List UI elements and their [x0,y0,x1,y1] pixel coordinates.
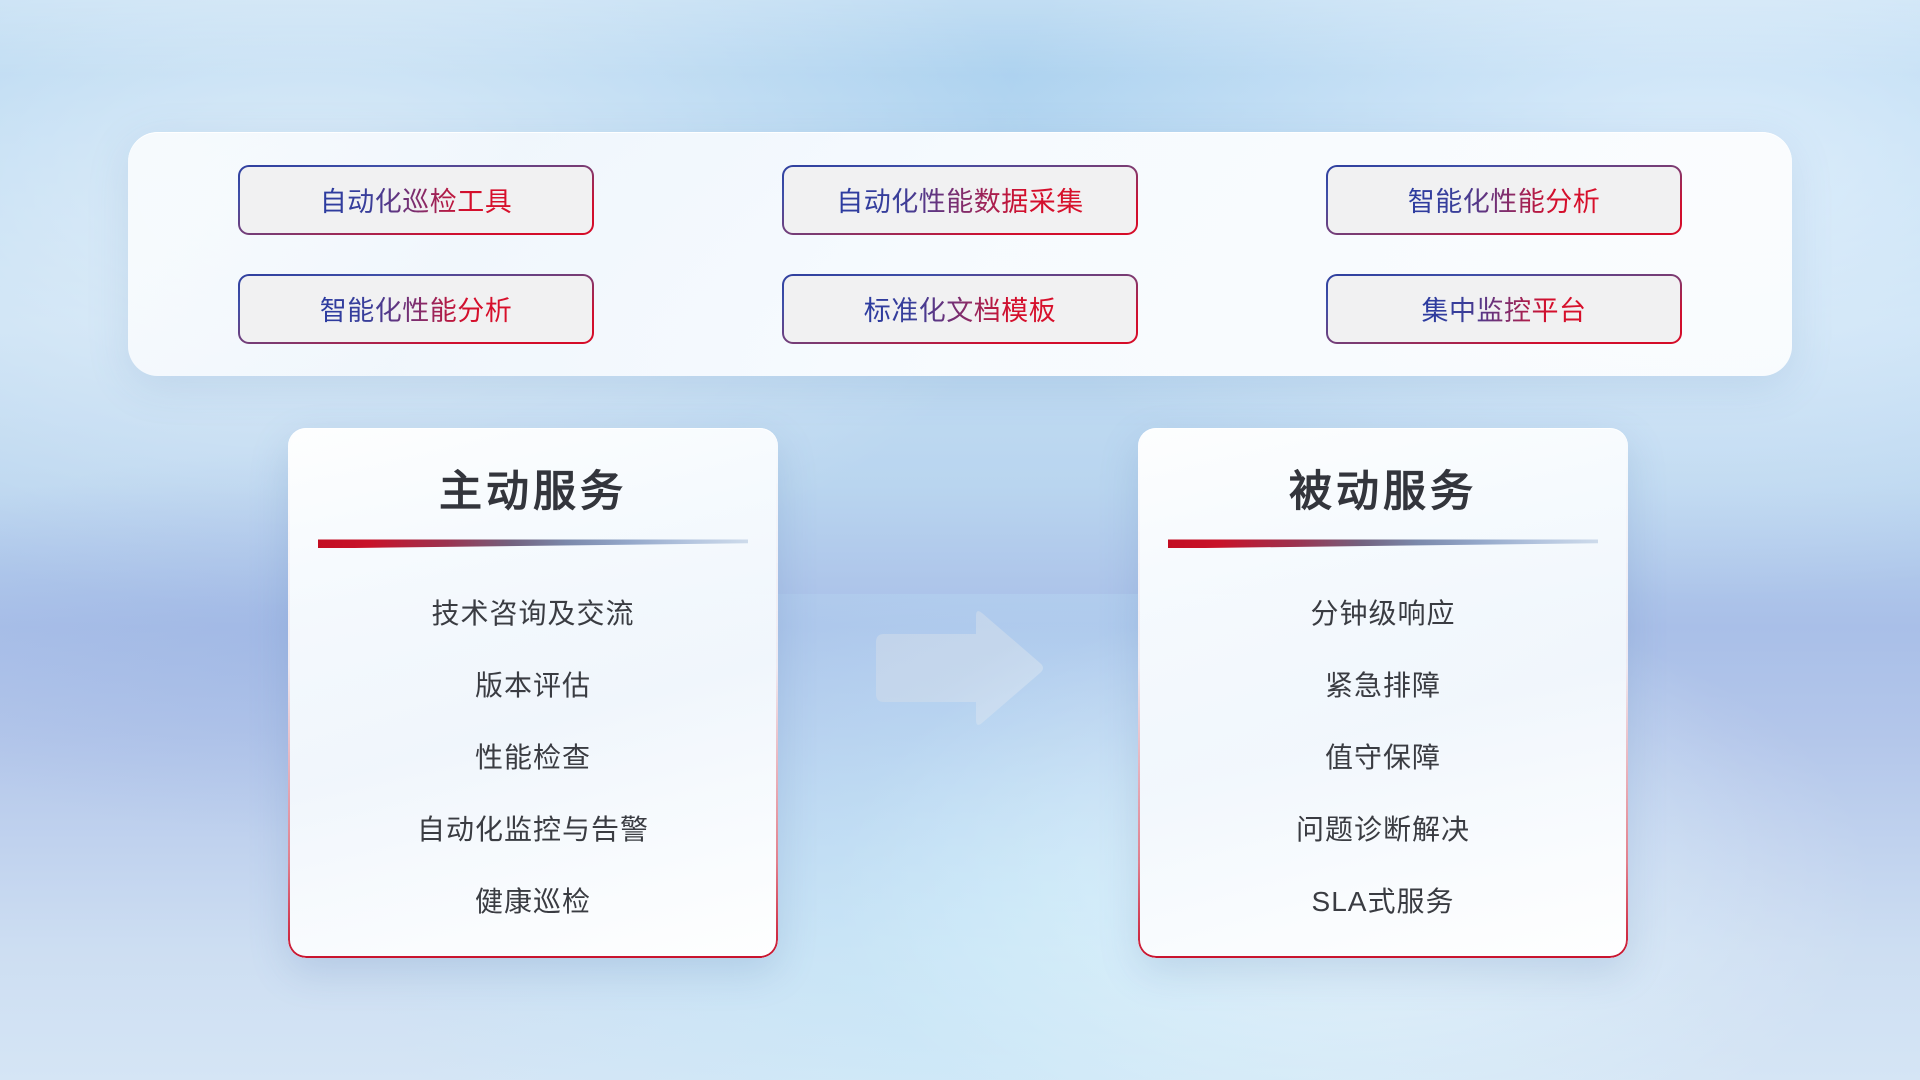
capability-tag-label: 自动化性能数据采集 [836,180,1084,219]
capability-tag-label: 自动化巡检工具 [320,180,513,219]
card-title: 被动服务 [1164,468,1602,517]
capability-panel: 自动化巡检工具 自动化性能数据采集 智能化性能分析 智能化性能分析 标准化文档模… [128,132,1792,376]
divider-bar [318,539,748,548]
capability-tag-body: 标准化文档模板 [784,276,1136,342]
capability-tag-label: 智能化性能分析 [320,289,513,328]
capability-tag-label: 集中监控平台 [1422,289,1587,328]
capability-tag-label: 智能化性能分析 [1408,180,1601,219]
background-top-sheen [0,0,1920,76]
list-item: 版本评估 [314,650,752,722]
capability-tag-body: 智能化性能分析 [240,276,592,342]
list-item: 健康巡检 [314,866,752,938]
service-list: 技术咨询及交流 版本评估 性能检查 自动化监控与告警 健康巡检 [314,578,752,938]
capability-tag-standardized-doc-template[interactable]: 标准化文档模板 [782,274,1138,344]
list-item: 自动化监控与告警 [314,794,752,866]
list-item: 问题诊断解决 [1164,794,1602,866]
list-item: 值守保障 [1164,722,1602,794]
list-item: 性能检查 [314,722,752,794]
service-card-reactive: 被动服务 分钟级响应 紧急排障 值守保障 问题诊断解决 SLA式服务 [1138,428,1628,958]
capability-tag-centralized-monitoring-platform[interactable]: 集中监控平台 [1326,274,1682,344]
service-card-proactive: 主动服务 技术咨询及交流 版本评估 性能检查 自动化监控与告警 健康巡检 [288,428,778,958]
capability-tag-automated-performance-collection[interactable]: 自动化性能数据采集 [782,165,1138,235]
card-title-divider [318,539,748,548]
service-list: 分钟级响应 紧急排障 值守保障 问题诊断解决 SLA式服务 [1164,578,1602,938]
card-title: 主动服务 [314,468,752,517]
capability-tag-intelligent-performance-analysis-a[interactable]: 智能化性能分析 [1326,165,1682,235]
capability-tag-body: 自动化巡检工具 [240,167,592,233]
capability-tag-body: 智能化性能分析 [1328,167,1680,233]
capability-tag-body: 集中监控平台 [1328,276,1680,342]
list-item: SLA式服务 [1164,866,1602,938]
capability-tag-automation-inspection-tool[interactable]: 自动化巡检工具 [238,165,594,235]
list-item: 技术咨询及交流 [314,578,752,650]
right-arrow-icon [868,608,1048,728]
capability-tag-intelligent-performance-analysis-b[interactable]: 智能化性能分析 [238,274,594,344]
list-item: 分钟级响应 [1164,578,1602,650]
capability-tag-label: 标准化文档模板 [864,289,1057,328]
capability-tag-body: 自动化性能数据采集 [784,167,1136,233]
divider-bar [1168,539,1598,548]
card-title-divider [1168,539,1598,548]
list-item: 紧急排障 [1164,650,1602,722]
